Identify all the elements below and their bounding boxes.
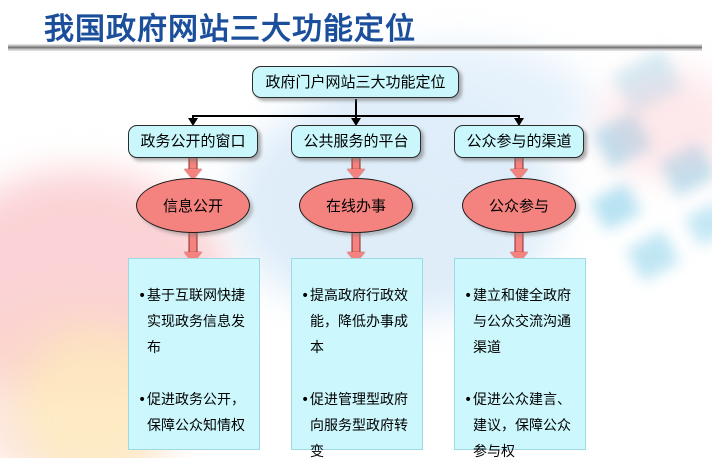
list-item: 促进管理型政府向服务型政府转变 [301,387,412,458]
pink-arrow-func-to-role-1 [183,156,203,180]
list-item: 提高政府行政效能，降低办事成本 [301,283,412,361]
role-ellipse-1-label: 信息公开 [163,195,223,216]
role-ellipse-3-label: 公众参与 [489,195,549,216]
slide-canvas: 我国政府网站三大功能定位 政府门户网站三大功能定位 政务公开的窗口 公共服务的平… [0,0,712,458]
function-node-3[interactable]: 公众参与的渠道 [454,125,584,158]
detail-panel-2[interactable]: 提高政府行政效能，降低办事成本 促进管理型政府向服务型政府转变 [291,258,423,450]
role-ellipse-3[interactable]: 公众参与 [462,178,576,233]
function-node-2[interactable]: 公共服务的平台 [291,125,421,158]
root-node-portal-functions[interactable]: 政府门户网站三大功能定位 [252,66,459,98]
bg-blob-white-right [600,300,712,458]
list-item: 促进公众建言、建议，保障公众参与权 [464,387,575,458]
root-node-label: 政府门户网站三大功能定位 [265,74,445,91]
bg-square-5 [685,201,712,246]
detail-panel-3[interactable]: 建立和健全政府与公众交流沟通渠道 促进公众建言、建议，保障公众参与权 [454,258,586,450]
detail-panel-1[interactable]: 基于互联网快捷实现政务信息发布 促进政务公开，保障公众知情权 [128,258,260,450]
role-ellipse-1[interactable]: 信息公开 [136,178,250,233]
list-item: 建立和健全政府与公众交流沟通渠道 [464,283,575,361]
function-node-3-label: 公众参与的渠道 [466,133,571,150]
pink-arrow-func-to-role-2 [346,156,366,180]
page-title: 我国政府网站三大功能定位 [44,4,416,48]
list-item: 促进政务公开，保障公众知情权 [138,387,249,439]
function-node-1[interactable]: 政务公开的窗口 [128,125,258,158]
title-divider-rule [8,44,702,51]
list-item: 基于互联网快捷实现政务信息发布 [138,283,249,361]
function-node-2-label: 公共服务的平台 [303,133,408,150]
connector-trunk [355,99,357,116]
pink-arrow-func-to-role-3 [509,156,529,180]
role-ellipse-2-label: 在线办事 [326,195,386,216]
bg-square-4 [626,230,680,282]
role-ellipse-2[interactable]: 在线办事 [299,178,413,233]
bg-square-3 [590,183,641,232]
function-node-1-label: 政务公开的窗口 [140,133,245,150]
